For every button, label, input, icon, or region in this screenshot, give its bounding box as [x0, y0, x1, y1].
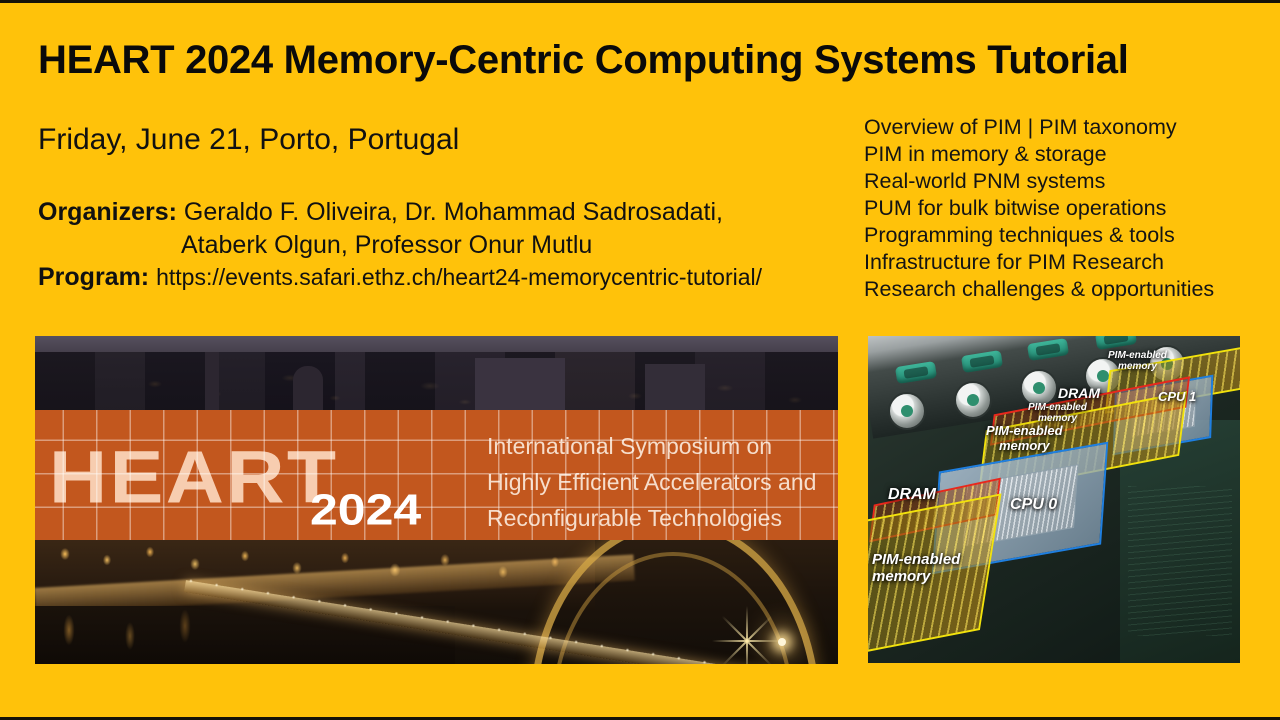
label-cpu0-text: CPU 0	[1010, 496, 1057, 513]
symposium-tagline: International Symposium on Highly Effici…	[487, 428, 816, 536]
topics-list: Overview of PIM | PIM taxonomy PIM in me…	[864, 114, 1264, 303]
lens-flare-ray	[746, 606, 748, 664]
porto-skyline-photo	[35, 336, 838, 412]
organizers-block: Organizers: Geraldo F. Oliveira, Dr. Moh…	[38, 196, 838, 263]
label-pim-mid-line-2: memory	[986, 439, 1063, 454]
slide-canvas: HEART 2024 Memory-Centric Computing Syst…	[0, 0, 1280, 720]
organizers-label: Organizers:	[38, 198, 177, 226]
cooling-fan	[954, 381, 992, 419]
heart-conference-banner-image: HEART 2024 International Symposium on Hi…	[35, 336, 838, 664]
tagline-line-1: International Symposium on	[487, 428, 816, 464]
label-pim-bottom-line-2: memory	[872, 569, 960, 586]
organizers-names-1: Geraldo F. Oliveira, Dr. Mohammad Sadros…	[184, 198, 723, 226]
program-line: Program: https://events.safari.ethz.ch/h…	[38, 263, 762, 292]
heart-logo-year: 2024	[310, 486, 421, 536]
heart-logo-band: HEART 2024 International Symposium on Hi…	[35, 410, 838, 540]
fan-hub	[967, 394, 979, 406]
label-dram-left-text: DRAM	[888, 486, 936, 503]
label-cpu1-text: CPU 1	[1158, 389, 1196, 404]
label-pim-bottom: PIM-enabled memory	[872, 552, 960, 586]
topic-item: Programming techniques & tools	[864, 222, 1264, 249]
label-pim-top: PIM-enabled memory	[1108, 350, 1167, 372]
fan-hub	[1033, 382, 1045, 394]
label-dram-top-text: DRAM	[1058, 385, 1100, 401]
label-dram-top: DRAM	[1058, 386, 1100, 402]
label-pim-mid-small: PIM-enabled memory	[1028, 402, 1087, 424]
heart-logo-text: HEART	[49, 434, 339, 519]
program-label: Program:	[38, 263, 149, 291]
organizers-line-1: Organizers: Geraldo F. Oliveira, Dr. Moh…	[38, 196, 838, 229]
topic-item: PIM in memory & storage	[864, 141, 1264, 168]
label-pim-top-line-2: memory	[1108, 361, 1167, 372]
organizers-line-2: Ataberk Olgun, Professor Onur Mutlu	[38, 229, 838, 262]
label-cpu0: CPU 0	[1010, 496, 1057, 514]
date-location-text: Friday, June 21, Porto, Portugal	[38, 123, 459, 157]
building-block	[475, 358, 565, 410]
fan-hub	[901, 405, 913, 417]
program-url-link[interactable]: https://events.safari.ethz.ch/heart24-me…	[156, 264, 762, 290]
porto-bridge-night-photo	[35, 540, 838, 664]
topic-item: PUM for bulk bitwise operations	[864, 195, 1264, 222]
label-pim-mid: PIM-enabled memory	[986, 424, 1063, 453]
city-silhouette	[35, 352, 838, 412]
top-edge-bar	[0, 0, 1280, 3]
label-dram-left: DRAM	[888, 486, 936, 504]
label-cpu1: CPU 1	[1158, 390, 1196, 405]
pim-server-photo: PIM-enabled memory CPU 1 DRAM PIM-enable…	[868, 336, 1240, 663]
tagline-line-3: Reconfigurable Technologies	[487, 500, 816, 536]
church-dome	[293, 366, 323, 410]
topic-item: Infrastructure for PIM Research	[864, 249, 1264, 276]
church-tower	[205, 352, 219, 410]
page-title: HEART 2024 Memory-Centric Computing Syst…	[38, 38, 1238, 83]
tagline-line-2: Highly Efficient Accelerators and	[487, 464, 816, 500]
pcb-traces	[1128, 486, 1232, 636]
topic-item: Research challenges & opportunities	[864, 276, 1264, 303]
label-pim-mid-line-1: PIM-enabled	[986, 424, 1063, 439]
cooling-fan	[888, 392, 926, 430]
topic-item: Real-world PNM systems	[864, 168, 1264, 195]
label-pim-mid-small-line-1: PIM-enabled	[1028, 402, 1087, 413]
topic-item: Overview of PIM | PIM taxonomy	[864, 114, 1264, 141]
label-pim-top-line-1: PIM-enabled	[1108, 350, 1167, 361]
building-block	[645, 364, 705, 410]
label-pim-bottom-line-1: PIM-enabled	[872, 552, 960, 569]
